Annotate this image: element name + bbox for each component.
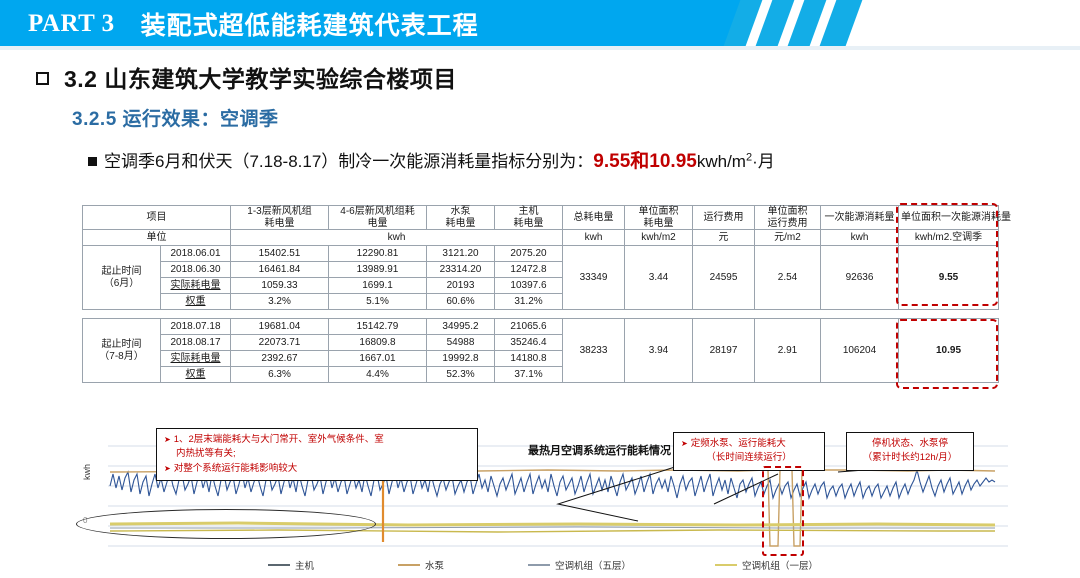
callout-line: （累计时长约12h/月） (854, 451, 966, 465)
filled-square-bullet-icon (88, 157, 97, 166)
key-metric-conjunction: 和 (630, 151, 649, 172)
td-pump: 54988 (427, 335, 495, 351)
table-header-row-1: 项目 1-3层新风机组 耗电量 4-6层新风机组耗 电量 水泵 耗电量 主机 耗… (83, 206, 999, 230)
td-chiller: 31.2% (495, 294, 563, 310)
table-row: 起止时间 （6月） 2018.06.01 15402.51 12290.81 3… (83, 246, 999, 262)
key-metric-unit-tail: ·月 (752, 152, 775, 171)
header-title-group: PART 3 装配式超低能耗建筑代表工程 (28, 4, 479, 44)
key-metric-unit: kwh/m (697, 152, 746, 171)
page-title: 3.2 山东建筑大学教学实验综合楼项目 (64, 60, 457, 94)
td-chiller: 2075.20 (495, 246, 563, 262)
td-fresh46: 1667.01 (329, 351, 427, 367)
callout-line: ➤1、2层末端能耗大与大门常开、室外气候条件、室 (164, 433, 470, 447)
legend-item-ahu-5f: 空调机组（五层） (528, 558, 631, 572)
td-pump: 3121.20 (427, 246, 495, 262)
td-row-label: 2018.07.18 (161, 319, 231, 335)
page-subtitle: 3.2.5 运行效果：空调季 (72, 104, 279, 131)
callout-line: 内热扰等有关; (164, 447, 470, 461)
th-primary-energy: 一次能源消耗量 (821, 206, 899, 230)
legend-swatch-ahu-5f (528, 564, 550, 567)
chart-y-axis-label: kwh (82, 464, 92, 480)
callout-line: （长时间连续运行） (681, 451, 817, 465)
th-cost-per-area: 单位面积 运行费用 (755, 206, 821, 230)
td-row-label: 实际耗电量 (161, 278, 231, 294)
arrow-bullet-icon: ➤ (164, 435, 171, 444)
td-unit-cost-per-area: 元/m2 (755, 230, 821, 246)
legend-item-pump: 水泵 (398, 558, 444, 572)
td-chiller: 37.1% (495, 367, 563, 383)
legend-swatch-ahu-1f (715, 564, 737, 567)
td-chiller: 35246.4 (495, 335, 563, 351)
part-label: PART 3 (28, 10, 115, 38)
table-block-spacer (83, 310, 999, 319)
td-unit-label: 单位 (83, 230, 231, 246)
td-fresh46: 15142.79 (329, 319, 427, 335)
chart-highlight-shutdown (762, 466, 804, 556)
key-metric-prefix: 空调季6月和伏天（7.18-8.17）制冷一次能源消耗量指标分别为： (104, 152, 593, 171)
chart-legend: 主机 水泵 空调机组（五层） 空调机组（一层） (78, 558, 1008, 572)
th-fresh-air-1-3: 1-3层新风机组 耗电量 (231, 206, 329, 230)
td-primary-per-area-july-aug: 10.95 (899, 319, 999, 383)
td-per-area-june: 3.44 (625, 246, 693, 310)
td-chiller: 10397.6 (495, 278, 563, 294)
td-row-label: 2018.06.01 (161, 246, 231, 262)
td-row-label: 权重 (161, 294, 231, 310)
td-unit-total: kwh (563, 230, 625, 246)
th-chiller: 主机 耗电量 (495, 206, 563, 230)
td-fresh46: 4.4% (329, 367, 427, 383)
key-metric-value-1: 9.55 (593, 151, 630, 172)
td-cost-june: 24595 (693, 246, 755, 310)
callout-line: ➤对整个系统运行能耗影响较大 (164, 462, 470, 476)
td-cost-per-area-july-aug: 2.91 (755, 319, 821, 383)
td-fresh13: 1059.33 (231, 278, 329, 294)
energy-table-wrap: 项目 1-3层新风机组 耗电量 4-6层新风机组耗 电量 水泵 耗电量 主机 耗… (82, 205, 998, 383)
td-chiller: 21065.6 (495, 319, 563, 335)
td-total-june: 33349 (563, 246, 625, 310)
th-power-per-area: 单位面积 耗电量 (625, 206, 693, 230)
td-primary-june: 92636 (821, 246, 899, 310)
legend-item-ahu-1f: 空调机组（一层） (715, 558, 818, 572)
chart-title: 最热月空调系统运行能耗情况 (528, 442, 671, 458)
td-total-july-aug: 38233 (563, 319, 625, 383)
legend-label: 空调机组（一层） (742, 558, 818, 572)
legend-swatch-pump (398, 564, 420, 567)
th-project: 项目 (83, 206, 231, 230)
td-fresh46: 16809.8 (329, 335, 427, 351)
td-fresh46: 5.1% (329, 294, 427, 310)
td-fresh13: 2392.67 (231, 351, 329, 367)
legend-label: 空调机组（五层） (555, 558, 631, 572)
chart-highlight-low-band (76, 509, 376, 539)
callout-constant-speed-pump: ➤定频水泵、运行能耗大 （长时间连续运行） (673, 432, 825, 471)
td-unit-kwh-span: kwh (231, 230, 563, 246)
energy-chart: kwh 0 最热月空调系统运行能耗情况 ➤1、2层末端能耗大与大门常开、室外气候… (78, 424, 1008, 576)
td-fresh46: 1699.1 (329, 278, 427, 294)
header-underline (0, 46, 1080, 50)
legend-swatch-chiller (268, 564, 290, 567)
td-pump: 52.3% (427, 367, 495, 383)
td-row-label: 2018.06.30 (161, 262, 231, 278)
td-fresh46: 13989.91 (329, 262, 427, 278)
td-unit-cost: 元 (693, 230, 755, 246)
td-period-june: 起止时间 （6月） (83, 246, 161, 310)
td-row-label: 2018.08.17 (161, 335, 231, 351)
part-title: 装配式超低能耗建筑代表工程 (141, 6, 479, 42)
slide-root: PART 3 装配式超低能耗建筑代表工程 3.2 山东建筑大学教学实验综合楼项目… (0, 0, 1080, 578)
td-fresh13: 19681.04 (231, 319, 329, 335)
legend-label: 主机 (295, 558, 314, 572)
td-primary-july-aug: 106204 (821, 319, 899, 383)
arrow-bullet-icon: ➤ (164, 464, 171, 473)
td-unit-primary-per-area: kwh/m2.空调季 (899, 230, 999, 246)
callout-leader-lines (558, 466, 878, 521)
callout-terminal-energy: ➤1、2层末端能耗大与大门常开、室外气候条件、室 内热扰等有关; ➤对整个系统运… (156, 428, 478, 481)
callout-line: 停机状态、水泵停 (854, 437, 966, 451)
td-row-label: 权重 (161, 367, 231, 383)
td-primary-per-area-june: 9.55 (899, 246, 999, 310)
td-pump: 23314.20 (427, 262, 495, 278)
td-fresh46: 12290.81 (329, 246, 427, 262)
td-fresh13: 6.3% (231, 367, 329, 383)
th-water-pump: 水泵 耗电量 (427, 206, 495, 230)
energy-table: 项目 1-3层新风机组 耗电量 4-6层新风机组耗 电量 水泵 耗电量 主机 耗… (82, 205, 999, 383)
td-chiller: 14180.8 (495, 351, 563, 367)
td-fresh13: 22073.71 (231, 335, 329, 351)
th-fresh-air-4-6: 4-6层新风机组耗 电量 (329, 206, 427, 230)
td-pump: 19992.8 (427, 351, 495, 367)
th-total-power: 总耗电量 (563, 206, 625, 230)
th-operating-cost: 运行费用 (693, 206, 755, 230)
td-fresh13: 3.2% (231, 294, 329, 310)
td-pump: 60.6% (427, 294, 495, 310)
td-chiller: 12472.8 (495, 262, 563, 278)
td-per-area-july-aug: 3.94 (625, 319, 693, 383)
legend-item-chiller: 主机 (268, 558, 314, 572)
callout-shutdown-state: 停机状态、水泵停 （累计时长约12h/月） (846, 432, 974, 471)
header-stripes (718, 0, 868, 46)
legend-label: 水泵 (425, 558, 444, 572)
td-fresh13: 16461.84 (231, 262, 329, 278)
arrow-bullet-icon: ➤ (681, 439, 688, 448)
square-bullet-icon (36, 72, 49, 85)
td-cost-per-area-june: 2.54 (755, 246, 821, 310)
callout-line: ➤定频水泵、运行能耗大 (681, 437, 817, 451)
td-cost-july-aug: 28197 (693, 319, 755, 383)
table-unit-row: 单位 kwh kwh kwh/m2 元 元/m2 kwh kwh/m2.空调季 (83, 230, 999, 246)
key-metric-line: 空调季6月和伏天（7.18-8.17）制冷一次能源消耗量指标分别为：9.55和1… (104, 146, 775, 173)
th-primary-energy-per-area: 单位面积一次能源消耗量 (899, 206, 999, 230)
td-fresh13: 15402.51 (231, 246, 329, 262)
td-period-july-aug: 起止时间 （7-8月） (83, 319, 161, 383)
td-unit-primary: kwh (821, 230, 899, 246)
key-metric-value-2: 10.95 (649, 151, 697, 172)
td-row-label: 实际耗电量 (161, 351, 231, 367)
td-pump: 20193 (427, 278, 495, 294)
td-unit-per-area: kwh/m2 (625, 230, 693, 246)
table-row: 起止时间 （7-8月） 2018.07.18 19681.04 15142.79… (83, 319, 999, 335)
td-pump: 34995.2 (427, 319, 495, 335)
